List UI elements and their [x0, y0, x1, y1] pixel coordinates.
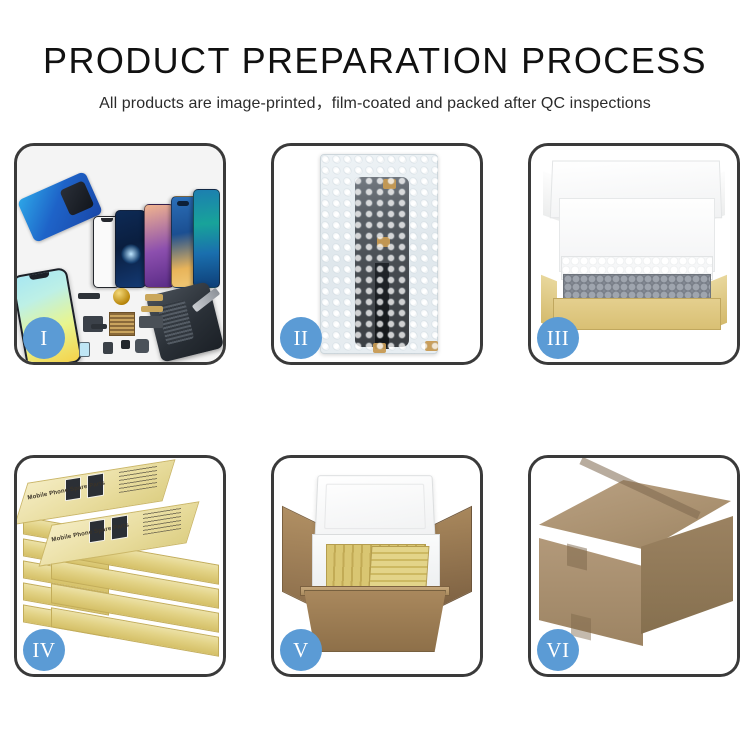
process-step-card-6: VI Sealed brown shipping carton	[528, 455, 740, 677]
process-step-card-1: I Phone LCD screens, displays and disass…	[14, 143, 226, 365]
tape-piece-4	[425, 341, 438, 351]
part-block-g	[121, 340, 130, 349]
part-block-e	[139, 316, 163, 328]
phone-teal-display	[193, 189, 220, 288]
product-preparation-infographic: PRODUCT PREPARATION PROCESS All products…	[0, 0, 750, 750]
part-block-i	[79, 342, 90, 357]
step-badge-6: VI	[537, 629, 579, 671]
part-block-f	[103, 342, 113, 354]
process-step-card-3: III Opened kraft box with white foam she…	[528, 143, 740, 365]
phone-purple-display	[144, 204, 174, 288]
chip-component-icon	[109, 312, 135, 336]
speaker-component-icon	[113, 288, 130, 305]
process-step-card-4: Mobile Phone Spare Parts Mobile Phone Sp…	[14, 455, 226, 677]
header: PRODUCT PREPARATION PROCESS All products…	[0, 0, 750, 113]
carton-hand-hole-top	[567, 544, 587, 571]
phone-blue-display	[115, 210, 146, 288]
tape-piece-3	[373, 343, 386, 353]
packed-yellow-boxes-right	[369, 546, 430, 588]
step-badge-5: V	[280, 629, 322, 671]
carton-front-panel	[304, 590, 446, 652]
page-title: PRODUCT PREPARATION PROCESS	[0, 42, 750, 80]
part-strip-b	[145, 294, 163, 301]
page-subtitle: All products are image-printed，film-coat…	[0, 89, 750, 113]
process-step-card-5: V Styrofoam box with packed boxes inside…	[271, 455, 483, 677]
step-badge-1: I	[23, 317, 65, 359]
part-strip-c	[141, 306, 163, 312]
process-step-grid: I Phone LCD screens, displays and disass…	[14, 143, 738, 677]
process-step-card-2: II Screen assembly sealed in bubble wrap…	[271, 143, 483, 365]
styrofoam-lid	[314, 475, 435, 540]
step-badge-4: IV	[23, 629, 65, 671]
tape-piece-2	[377, 237, 390, 247]
step-badge-2: II	[280, 317, 322, 359]
step-badge-3: III	[537, 317, 579, 359]
bubble-wrap-bag-graphic	[320, 154, 438, 354]
part-block-h	[135, 339, 149, 353]
part-strip-a	[78, 293, 100, 299]
flex-cable-graphic	[375, 263, 389, 349]
kraft-box-front	[553, 298, 721, 330]
phone-lineup-graphic	[89, 188, 221, 288]
part-block-j	[91, 324, 107, 329]
tape-piece-1	[383, 179, 396, 189]
